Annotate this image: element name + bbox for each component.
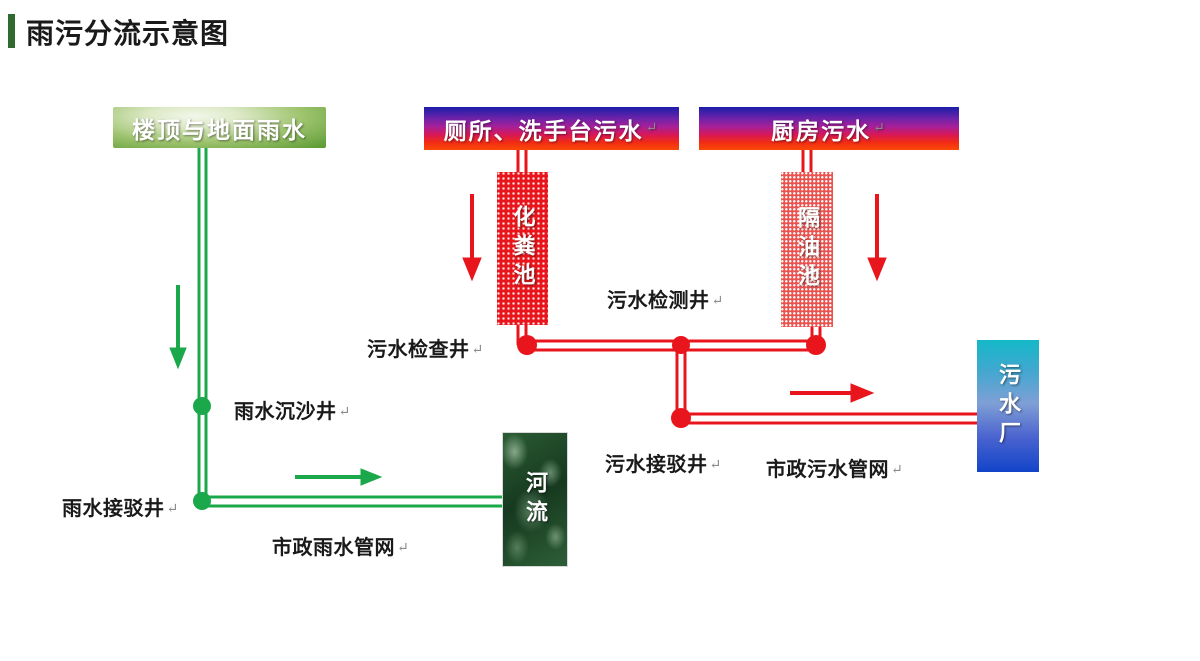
label-sewage-inspect-well: 污水检查井↵ [367,333,484,362]
source-box-toilet[interactable]: 厕所、洗手台污水 ↵ [424,107,679,150]
pilcrow-mark: ↵ [889,463,903,478]
node-sewage-monitor-well [672,336,690,354]
rain-arrow-down-head [170,348,186,368]
facility-box-septic-tank[interactable]: 化粪池 [497,172,548,325]
source-box-rainwater-label: 楼顶与地面雨水 [132,111,307,145]
label-rain-connect-well-text: 雨水接驳井 [62,498,165,520]
node-sewage-connect-well [671,408,691,428]
label-rain-sand-well: 雨水沉沙井↵ [234,395,351,424]
label-rain-network-text: 市政雨水管网 [272,537,395,559]
pilcrow-mark: ↵ [395,541,409,556]
label-sewage-network: 市政污水管网↵ [766,453,903,482]
facility-box-grease-trap-label: 隔油池 [796,206,818,293]
rain-arrow-right-head [361,469,381,485]
pilcrow-mark: ↵ [165,502,179,517]
facility-box-sewage-plant-label: 污水厂 [997,363,1019,450]
label-rain-network: 市政雨水管网↵ [272,531,409,560]
pipe-network-svg [0,0,1200,661]
label-sewage-monitor-well-text: 污水检测井 [607,290,710,312]
label-sewage-connect-well-text: 污水接驳井 [605,454,708,476]
pilcrow-mark: ↵ [708,458,722,473]
rainwater-arrow-group [170,285,381,485]
pilcrow-mark: ↵ [337,405,351,420]
node-sewage-grease-outlet [806,335,826,355]
node-rain-sand-well [193,397,211,415]
facility-box-sewage-plant[interactable]: 污水厂 [977,340,1039,472]
label-rain-connect-well: 雨水接驳井↵ [62,492,179,521]
label-sewage-monitor-well: 污水检测井↵ [607,284,724,313]
source-box-kitchen-label: 厨房污水 [771,112,871,146]
facility-box-river-label: 河流 [524,471,546,529]
label-sewage-connect-well: 污水接驳井↵ [605,448,722,477]
facility-box-septic-tank-label: 化粪池 [512,205,534,292]
sewage-arrow-grease-head [868,258,886,280]
pilcrow-mark: ↵ [470,343,484,358]
diagram-canvas: 楼顶与地面雨水 厕所、洗手台污水 ↵ 厨房污水 ↵ 化粪池 隔油池 污水厂 河流… [0,0,1200,661]
pilcrow-mark: ↵ [710,294,724,309]
rainwater-pipe-group [199,148,506,506]
pilcrow-mark: ↵ [644,120,660,137]
source-box-rainwater[interactable]: 楼顶与地面雨水 [113,107,326,148]
label-sewage-inspect-well-text: 污水检查井 [367,339,470,361]
label-rain-sand-well-text: 雨水沉沙井 [234,401,337,423]
label-sewage-network-text: 市政污水管网 [766,459,889,481]
pilcrow-mark: ↵ [871,120,887,137]
node-rain-connect-well [193,492,211,510]
sewage-pipe-group [518,150,982,423]
node-sewage-inspect-well [517,335,537,355]
facility-box-river[interactable]: 河流 [502,432,568,567]
sewage-arrow-right-head [851,384,873,402]
source-box-kitchen[interactable]: 厨房污水 ↵ [699,107,959,150]
sewage-arrow-septic-head [463,258,481,280]
source-box-toilet-label: 厕所、洗手台污水 [444,112,644,146]
facility-box-grease-trap[interactable]: 隔油池 [781,172,833,327]
